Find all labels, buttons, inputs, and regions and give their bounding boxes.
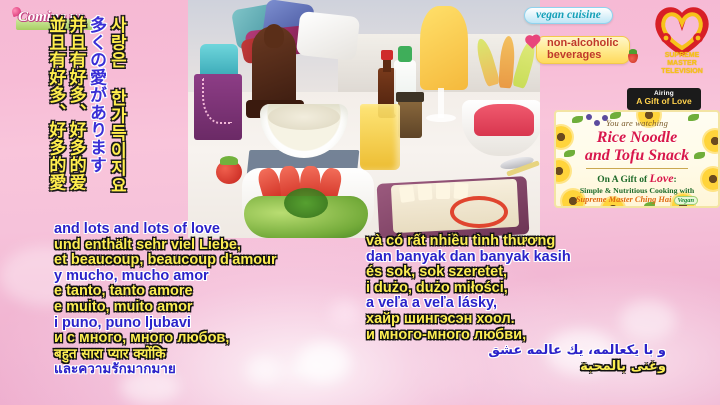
now-watching-content: You are watching Rice Noodle and Tofu Sn…: [556, 118, 718, 204]
wine-glass-base: [426, 114, 456, 122]
subtitle-column-right: và có rất nhiều tình thương dan banyak d…: [366, 234, 666, 374]
vertical-subtitle-chinese-traditional: 並且有好多、好多的愛: [46, 16, 63, 206]
host-name: Supreme Master Ching Hai: [576, 195, 672, 204]
vertical-subtitle-chinese-simplified: 并且有好多、好多的爱: [66, 16, 83, 206]
subtitle-line-italian: e tanto, tanto amore: [54, 284, 374, 300]
tofu-cube: [417, 184, 432, 201]
tofu-cube: [436, 183, 450, 199]
cushion-white: [296, 11, 360, 61]
badge-non-alcoholic-beverages: non-alcoholic beverages: [536, 36, 630, 64]
subtitle-line-spanish: y mucho, mucho amor: [54, 269, 374, 285]
vertical-subtitle-japanese: 多くの愛があります: [87, 16, 104, 206]
badge-nonalc-line2: beverages: [547, 50, 619, 62]
subtitle-line-polish: i dużo, dużo miłości,: [366, 281, 666, 297]
heart-swirl-icon: [650, 4, 714, 56]
strawberry-icon: [628, 52, 638, 63]
airing-badge: Airing A Gift of Love: [627, 88, 701, 110]
subtitle-line-portuguese: e muito, muito amor: [54, 300, 374, 316]
bowl-contents: [268, 104, 340, 130]
subtitle-line-croatian: i puno, puno ljubavi: [54, 316, 374, 332]
series-love-word: Love: [650, 171, 674, 185]
vertical-subtitle-korean: 사랑은 한가득이지요: [107, 16, 124, 206]
subtitle-line-german: und enthält sehr viel Liebe,: [54, 238, 374, 254]
subtitle-line-indonesian: dan banyak dan banyak kasih: [366, 250, 666, 266]
subtitle-line-arabic: وغنى بالمحبة: [366, 359, 666, 375]
sauce-swirl: [450, 196, 508, 228]
subtitle-line-thai: และความรักมากมาย: [54, 362, 374, 378]
vertical-subtitle-columns: 사랑은 한가득이지요 多くの愛があります 并且有好多、好多的爱 並且有好多、好多…: [46, 16, 124, 206]
subtitle-line-hungarian: és sok, sok szeretet,: [366, 265, 666, 281]
subtitle-line-french: et beaucoup, beaucoup d'amour: [54, 253, 374, 269]
now-watching-prefix: You are watching: [572, 118, 702, 128]
folded-napkin: [420, 6, 468, 90]
badge-vegan-cuisine: vegan cuisine: [524, 7, 613, 24]
subtitle-line-persian: و با يكعالمه، يك عالمه عشق: [366, 343, 666, 359]
video-feed[interactable]: [188, 0, 540, 238]
host-line: Supreme Master Ching Hai Vegan: [572, 195, 702, 204]
water-bottle-cap: [398, 46, 412, 62]
subtitle-column-left: and lots and lots of love und enthält se…: [54, 222, 374, 378]
badge-nonalc-line1: non-alcoholic: [547, 37, 619, 49]
series-prefix: On A Gift of: [597, 175, 649, 185]
tea-glass: [360, 104, 400, 170]
subtitle-line-hindi: बहुत सारा प्यार क्योंकि: [54, 347, 374, 363]
sauce-bottle-cap: [381, 50, 393, 60]
subtitle-line-russian: и много-много любви,: [366, 328, 666, 344]
now-watching-title-line2: and Tofu Snack: [572, 147, 702, 164]
series-colon: :: [674, 175, 677, 185]
subtitle-line-bulgarian: и с много, много любов,: [54, 331, 374, 347]
supreme-master-tv-logo: SUPREME MASTERTELEVISION: [650, 4, 714, 80]
watermelon-slice: [474, 104, 534, 136]
cilantro-sprig: [284, 188, 328, 218]
subtitle-line-mongolian: хайр шингэсэн хоол.: [366, 312, 666, 328]
subtitle-line-vietnamese: và có rất nhiều tình thương: [366, 234, 666, 250]
tomato-leaf: [220, 156, 238, 165]
now-watching-title-line1: Rice Noodle: [572, 129, 702, 146]
tofu-cube: [399, 185, 415, 203]
logo-wordmark: SUPREME MASTERTELEVISION: [650, 52, 714, 76]
jar-lid: [396, 92, 424, 102]
badge-vegan-label: vegan cuisine: [536, 9, 601, 21]
subtitle-line-slovak: a veľa a veľa lásky,: [366, 296, 666, 312]
buddha-head: [264, 24, 284, 48]
subtitle-line-english: and lots and lots of love: [54, 222, 374, 238]
series-description: Simple & Nutritious Cooking with: [572, 186, 702, 196]
host-vegan-tag: Vegan: [674, 196, 699, 205]
candle-teal: [200, 44, 238, 78]
airing-show-title: A Gift of Love: [630, 97, 698, 107]
divider: [586, 168, 688, 169]
now-watching-panel: You are watching Rice Noodle and Tofu Sn…: [554, 110, 720, 208]
series-line: On A Gift of Love:: [572, 171, 702, 186]
glass-jar: [398, 98, 422, 138]
broadcast-screen: Coming up 사랑은 한가득이지요 多くの愛があります 并且有好多、好多的…: [0, 0, 720, 405]
